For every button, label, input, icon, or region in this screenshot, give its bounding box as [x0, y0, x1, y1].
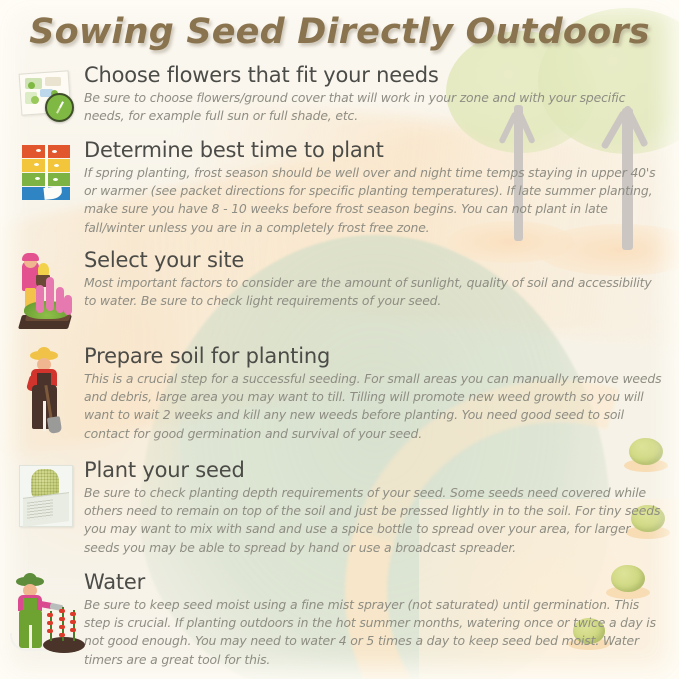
step-text-cell: Choose flowers that fit your needs Be su… — [82, 64, 665, 125]
seed-packet-icon — [19, 465, 73, 527]
step-item-best-time: Determine best time to plant If spring p… — [0, 139, 679, 237]
step-body: Most important factors to consider are t… — [84, 274, 665, 311]
step-icon-cell — [10, 249, 82, 329]
step-heading: Water — [84, 571, 665, 595]
planting-flowers-icon — [16, 255, 76, 329]
step-heading: Select your site — [84, 249, 665, 273]
step-body: Be sure to check planting depth requirem… — [84, 484, 665, 557]
step-text-cell: Water Be sure to keep seed moist using a… — [82, 571, 665, 669]
step-text-cell: Select your site Most important factors … — [82, 249, 665, 310]
infographic-poster: Sowing Seed Directly Outdoors — [0, 0, 679, 679]
watering-gardener-icon — [10, 577, 82, 653]
step-icon-cell — [10, 139, 82, 203]
step-item-choose-flowers: Choose flowers that fit your needs Be su… — [0, 64, 679, 125]
steps-list: Choose flowers that fit your needs Be su… — [0, 60, 679, 669]
page-title: Sowing Seed Directly Outdoors — [0, 12, 679, 52]
step-heading: Choose flowers that fit your needs — [84, 64, 665, 88]
step-text-cell: Prepare soil for planting This is a cruc… — [82, 345, 665, 443]
step-body: Be sure to choose flowers/ground cover t… — [84, 89, 665, 126]
gardener-with-shovel-icon — [20, 351, 72, 435]
step-heading: Determine best time to plant — [84, 139, 665, 163]
step-heading: Prepare soil for planting — [84, 345, 665, 369]
step-icon-cell — [10, 571, 82, 653]
step-text-cell: Determine best time to plant If spring p… — [82, 139, 665, 237]
step-icon-cell — [10, 459, 82, 527]
garden-plan-icon — [18, 70, 74, 122]
step-body: This is a crucial step for a successful … — [84, 370, 665, 443]
step-item-prepare-soil: Prepare soil for planting This is a cruc… — [0, 345, 679, 443]
step-body: If spring planting, frost season should … — [84, 164, 665, 237]
step-text-cell: Plant your seed Be sure to check plantin… — [82, 459, 665, 557]
step-item-select-site: Select your site Most important factors … — [0, 249, 679, 329]
step-body: Be sure to keep seed moist using a fine … — [84, 596, 665, 669]
step-heading: Plant your seed — [84, 459, 665, 483]
step-icon-cell — [10, 345, 82, 435]
step-item-plant-seed: Plant your seed Be sure to check plantin… — [0, 459, 679, 557]
step-item-water: Water Be sure to keep seed moist using a… — [0, 571, 679, 669]
four-seasons-icon — [22, 145, 70, 203]
step-icon-cell — [10, 64, 82, 122]
